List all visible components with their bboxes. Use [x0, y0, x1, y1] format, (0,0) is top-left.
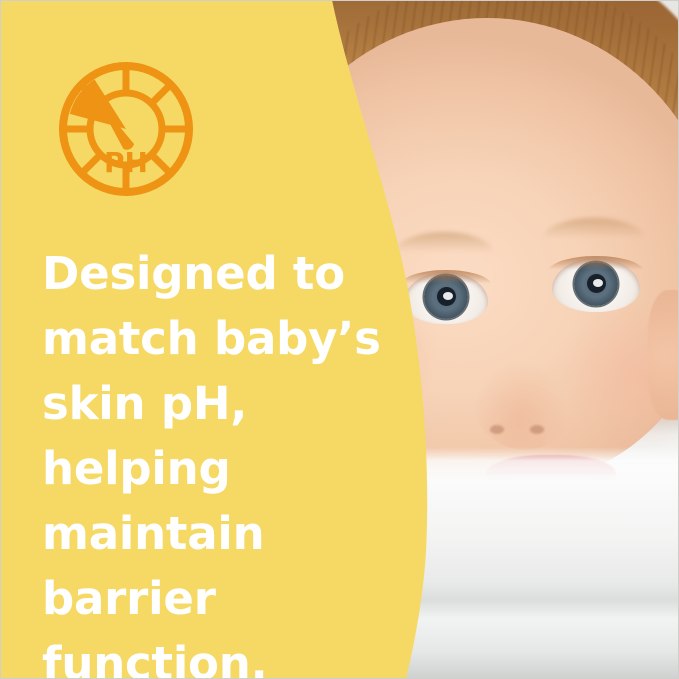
- promo-card: PH Designed tomatch baby’sskin pH, helpi…: [0, 0, 679, 679]
- gauge-graphic: PH: [63, 66, 189, 192]
- headline-line: match baby’s: [42, 312, 381, 365]
- ph-gauge-icon: PH: [55, 58, 197, 200]
- headline-line: maintain barrier: [42, 507, 264, 625]
- headline-line: Designed to: [42, 247, 345, 300]
- headline-text: Designed tomatch baby’sskin pH, helpingm…: [42, 241, 414, 679]
- headline-line: skin pH, helping: [42, 377, 247, 495]
- gauge-ph-label: PH: [104, 146, 148, 179]
- headline-line: function.: [42, 637, 268, 679]
- gauge-needle: [96, 98, 134, 150]
